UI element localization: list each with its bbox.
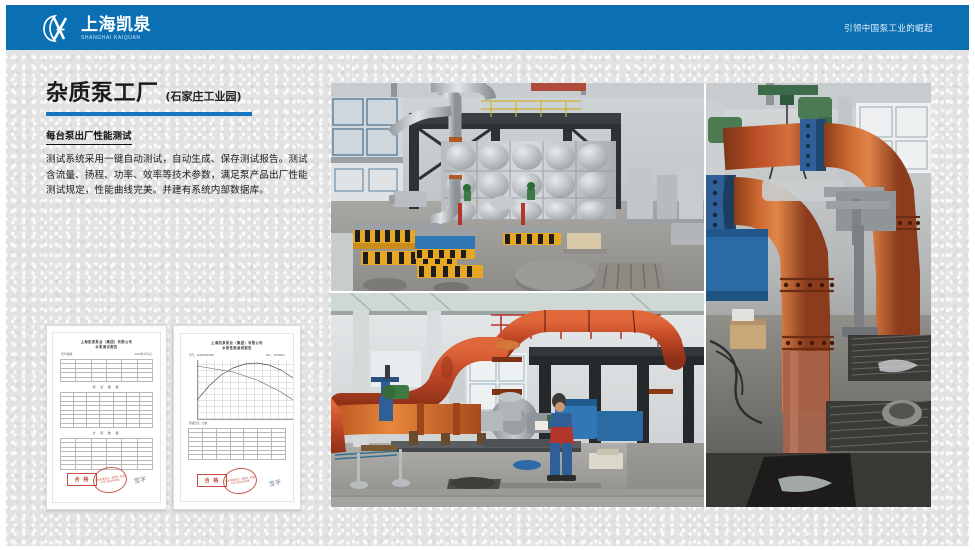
document-page: 上海凯泉泵业（集团）有限公司 水泵测试报告 型号/规格： 2018年1月1日 测… (52, 332, 161, 503)
left-content-column: 杂质泵工厂 (石家庄工业园) 每台泵出厂性能测试 测试系统采用一键自动测试，自动… (46, 82, 311, 199)
document-meta-left: 型号/规格： (61, 352, 75, 356)
document-title: 上海凯泉泵业（集团）有限公司 水泵性能曲线报告 (181, 341, 293, 351)
document-title: 上海凯泉泵业（集团）有限公司 水泵测试报告 (53, 340, 160, 350)
document-meta-number: NO.：2018001 (266, 353, 285, 357)
slide-canvas: 上海凯泉 SHANGHAI KAIQUAN 引领中国泵工业的崛起 杂质泵工厂 (… (0, 0, 975, 550)
document-page: 上海凯泉泵业（集团）有限公司 水泵性能曲线报告 型号：KQSN300-M6 NO… (180, 333, 294, 502)
title-underline-bar (46, 112, 252, 116)
section-heading: 每台泵出厂性能测试 (46, 131, 132, 145)
slide-edge-left (0, 0, 6, 550)
document-title-line1: 上海凯泉泵业（集团）有限公司 (81, 340, 133, 344)
paragraph-line: 测试系统采用一键自动测试，自动生成、保存测试报告。测试 (46, 152, 311, 168)
document-meta: 型号：KQSN300-M6 NO.：2018001 (181, 353, 293, 357)
company-seal: 上海凯泉泵业（集团）有限公司 检验专用章 (221, 466, 258, 496)
photo-test-bay-tanks[interactable] (331, 83, 704, 291)
slide-edge-right (969, 0, 975, 550)
header-slogan: 引领中国泵工业的崛起 (844, 5, 933, 50)
photo-column-right (706, 83, 931, 507)
document-summary-table (188, 428, 286, 460)
slide-edge-top (0, 0, 975, 5)
document-title-line2: 水泵测试报告 (95, 345, 117, 349)
document-meta-model: 型号：KQSN300-M6 (189, 353, 214, 357)
table-row (61, 423, 153, 427)
document-meta: 型号/规格： 2018年1月1日 (53, 352, 160, 356)
table-row (61, 377, 153, 381)
slide-edge-bottom (0, 546, 975, 550)
document-title-line1: 上海凯泉泵业（集团）有限公司 (211, 341, 263, 345)
test-report-table-thumbnail[interactable]: 上海凯泉泵业（集团）有限公司 水泵测试报告 型号/规格： 2018年1月1日 测… (46, 325, 167, 510)
paragraph-line: 测试规定，性能曲线完美。并建有系统内部数据库。 (46, 183, 311, 199)
logo-english-name: SHANGHAI KAIQUAN (81, 35, 151, 41)
document-calculation-table (60, 438, 153, 470)
table-row (189, 455, 286, 459)
page-title-row: 杂质泵工厂 (石家庄工业园) (46, 82, 311, 106)
chart-series-efficiency (197, 366, 293, 400)
signature-mark: 签字 (133, 474, 147, 485)
photo-orange-pipework[interactable] (706, 83, 931, 507)
document-meta-date: 2018年1月1日 (134, 352, 152, 356)
photo-pump-test-loop[interactable] (331, 293, 704, 507)
brand-logo[interactable]: 上海凯泉 SHANGHAI KAIQUAN (42, 12, 151, 44)
table-section-label: 测 试 数 据 (53, 385, 160, 389)
photo-gallery (331, 83, 931, 507)
photo-column-left (331, 83, 704, 507)
document-header-table (60, 359, 153, 382)
paragraph-line: 含流量、扬程、功率、效率等技术参数，满足泵产品出厂性能 (46, 168, 311, 184)
document-thumbnails: 上海凯泉泵业（集团）有限公司 水泵测试报告 型号/规格： 2018年1月1日 测… (46, 325, 301, 510)
document-note: 测试结论：合格 (189, 421, 207, 425)
kaiquan-logo-icon (42, 13, 76, 43)
page-subtitle: (石家庄工业园) (166, 88, 242, 106)
test-report-curve-thumbnail[interactable]: 上海凯泉泵业（集团）有限公司 水泵性能曲线报告 型号：KQSN300-M6 NO… (173, 325, 301, 510)
page-header: 上海凯泉 SHANGHAI KAIQUAN 引领中国泵工业的崛起 (6, 5, 969, 50)
document-measurement-table (60, 392, 153, 428)
table-section-label: 计 算 数 据 (53, 431, 160, 435)
section-paragraph: 测试系统采用一键自动测试，自动生成、保存测试报告。测试 含流量、扬程、功率、效率… (46, 152, 311, 199)
document-note-row: 测试结论：合格 (181, 421, 293, 425)
chart-curves (197, 360, 293, 420)
signature-mark: 签字 (268, 477, 282, 488)
document-title-line2: 水泵性能曲线报告 (222, 346, 252, 350)
page-title: 杂质泵工厂 (46, 82, 159, 106)
logo-chinese-name: 上海凯泉 (81, 17, 151, 34)
performance-curve-chart (197, 360, 293, 420)
